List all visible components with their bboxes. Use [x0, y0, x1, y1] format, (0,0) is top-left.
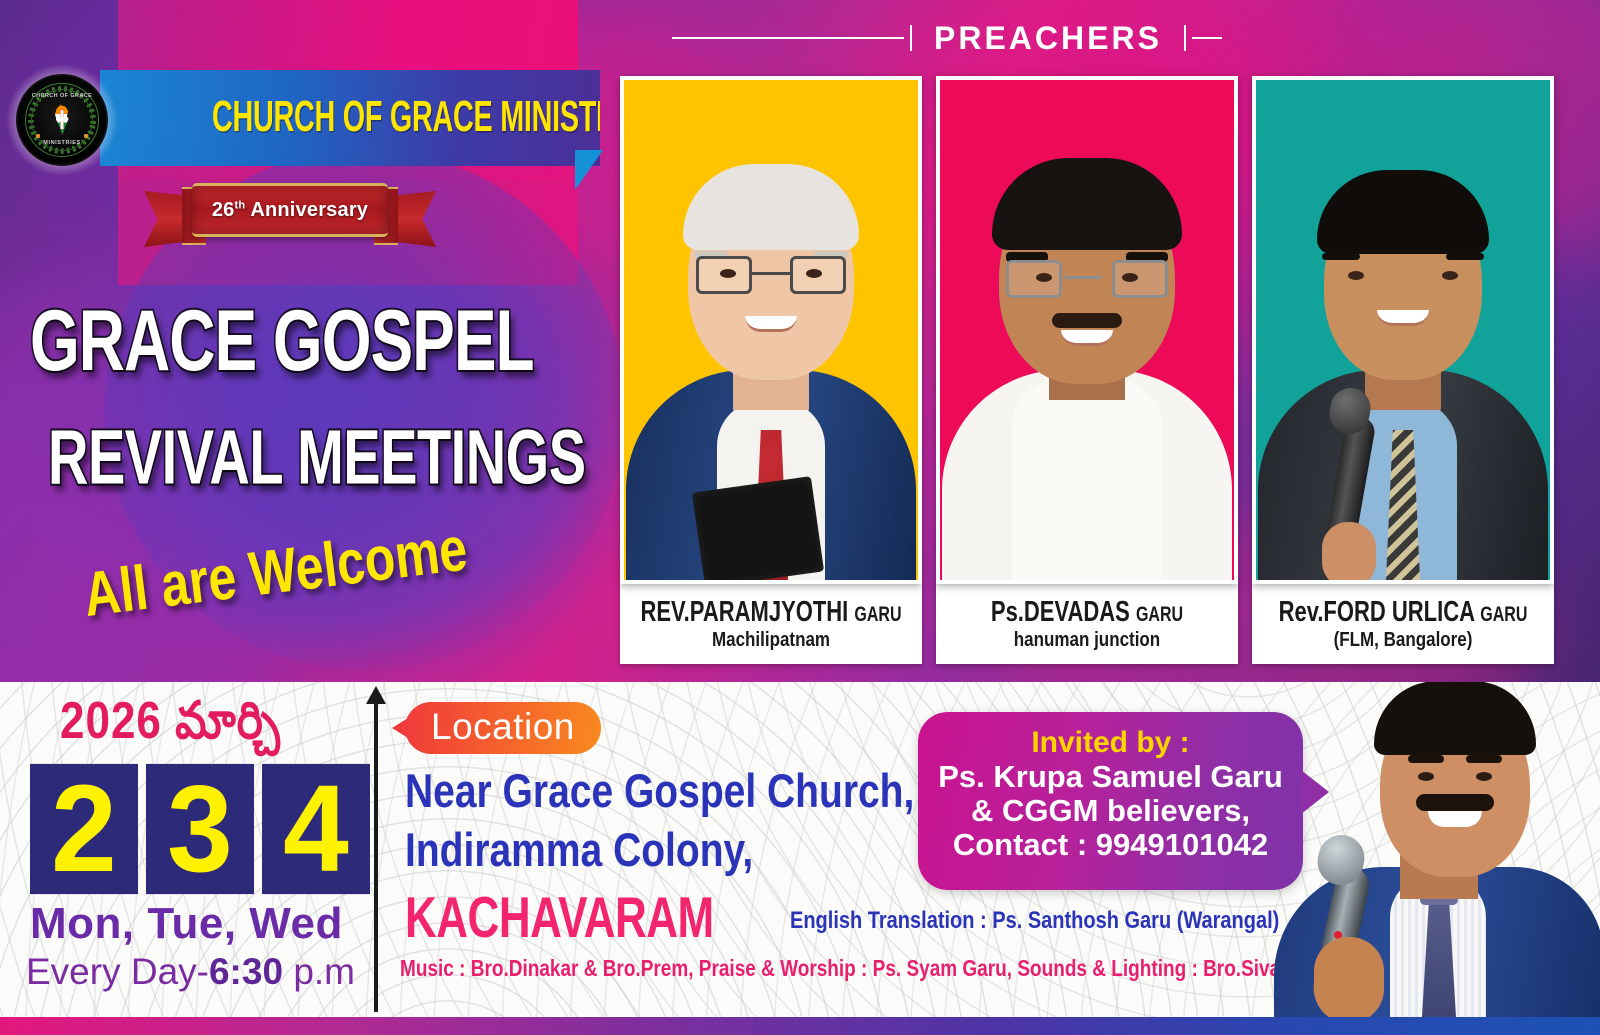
preacher-portrait	[940, 80, 1234, 580]
top-hero-section: PREACHERS CHURCH OF GRACE MINISTRIES PRE…	[0, 0, 1600, 682]
preacher-card: REV.PARAMJYOTHI GARU Machilipatnam	[620, 76, 922, 664]
mouth	[1377, 310, 1429, 326]
preacher-place: Machilipatnam	[712, 628, 830, 652]
preacher-name: REV.PARAMJYOTHI GARU	[640, 595, 901, 629]
day-number: 3	[146, 764, 254, 894]
preacher-card: Ps.DEVADAS GARU hanuman junction	[936, 76, 1238, 664]
preachers-heading-label: PREACHERS	[934, 20, 1162, 57]
preacher-portrait	[624, 80, 918, 580]
preacher-caption: Rev.FORD URLICA GARU (FLM, Bangalore)	[1252, 584, 1554, 664]
moustache	[1052, 313, 1122, 328]
bible-shape	[692, 476, 824, 584]
cross-icon	[56, 117, 68, 120]
preacher-card: Rev.FORD URLICA GARU (FLM, Bangalore)	[1252, 76, 1554, 664]
invited-by-line-2: & CGGM believers,	[928, 794, 1293, 828]
hand-shape	[1314, 937, 1384, 1017]
invited-by-contact: Contact : 9949101042	[928, 828, 1293, 862]
location-line-1: Near Grace Gospel Church,	[405, 768, 925, 818]
eye	[1122, 273, 1138, 282]
main-title-line1: GRACE GOSPEL	[30, 300, 610, 383]
hand-shape	[1322, 522, 1376, 584]
mouth	[1061, 330, 1113, 346]
hair-shape	[1317, 170, 1489, 254]
moustache	[1416, 794, 1494, 811]
heading-tick-right	[1184, 25, 1186, 51]
badge-tail	[392, 718, 408, 738]
invited-by-heading: Invited by :	[928, 726, 1293, 760]
preacher-place: hanuman junction	[1014, 628, 1160, 652]
preacher-caption: REV.PARAMJYOTHI GARU Machilipatnam	[620, 584, 922, 664]
ministry-logo: CHURCH OF GRACE MINISTRIES	[16, 74, 108, 166]
logo-dot	[36, 134, 40, 138]
event-date-block: 2026 మార్చి 2 3 4 Mon, Tue, Wed Every Da…	[18, 692, 378, 993]
preacher-caption: Ps.DEVADAS GARU hanuman junction	[936, 584, 1238, 664]
bottom-color-strip	[0, 1017, 1600, 1035]
logo-top-text: CHURCH OF GRACE	[32, 93, 92, 99]
day-number: 4	[262, 764, 370, 894]
hair-shape	[683, 164, 859, 250]
eyebrow	[1446, 253, 1484, 260]
logo-dot	[84, 134, 88, 138]
preacher-portrait	[1256, 80, 1550, 580]
eye	[1442, 271, 1458, 280]
mouth	[1428, 811, 1482, 827]
eye	[720, 269, 736, 278]
preacher-name: Rev.FORD URLICA GARU	[1279, 595, 1528, 629]
english-translation-label: English Translation : Ps. Santhosh Garu …	[790, 908, 1279, 935]
presents-ribbon: CHURCH OF GRACE MINISTRIES PRESENTS	[100, 70, 600, 166]
glasses-icon	[1006, 260, 1168, 298]
eye	[1418, 772, 1434, 781]
eyebrow	[1466, 755, 1502, 763]
heading-rule-left	[672, 37, 904, 39]
eye	[806, 269, 822, 278]
glasses-icon	[696, 256, 846, 294]
preachers-heading: PREACHERS	[672, 18, 1272, 58]
hair-shape	[992, 158, 1182, 250]
day-number-group: 2 3 4	[30, 767, 378, 891]
anniversary-label: 26th Anniversary	[212, 199, 368, 222]
invited-by-bubble: Invited by : Ps. Krupa Samuel Garu & CGG…	[918, 712, 1303, 890]
bridge	[1064, 276, 1102, 279]
preacher-place: (FLM, Bangalore)	[1334, 628, 1473, 652]
vertical-arrow-divider	[374, 700, 378, 1012]
preacher-photo-frame	[1252, 76, 1554, 584]
preacher-photo-frame	[936, 76, 1238, 584]
lens	[1006, 260, 1062, 298]
preacher-photo-frame	[620, 76, 922, 584]
location-line-2: Indiramma Colony,	[405, 827, 925, 877]
logo-disc: CHURCH OF GRACE MINISTRIES	[16, 74, 108, 166]
time-label: Every Day-6:30 p.m	[26, 951, 378, 993]
heading-rule-right	[1192, 37, 1222, 39]
eye	[1348, 271, 1364, 280]
preacher-name: Ps.DEVADAS GARU	[991, 595, 1183, 629]
heading-tick-left	[910, 25, 912, 51]
weekdays-label: Mon, Tue, Wed	[30, 899, 378, 949]
eyebrow	[1408, 755, 1444, 763]
logo-bottom-text: MINISTRIES	[43, 140, 80, 146]
eye	[1036, 273, 1052, 282]
location-badge-label: Location	[405, 702, 601, 754]
location-block: Location Near Grace Gospel Church, Indir…	[405, 702, 925, 934]
preacher-cards: REV.PARAMJYOTHI GARU Machilipatnam	[620, 76, 1554, 664]
month-year-label: 2026 మార్చి	[60, 692, 378, 764]
hair-shape	[1374, 682, 1536, 755]
main-title-line2: REVIVAL MEETINGS	[48, 420, 628, 494]
anniversary-ribbon: 26th Anniversary	[140, 175, 440, 253]
eyebrow	[1322, 253, 1360, 260]
lens	[1112, 260, 1168, 298]
shirt-shape	[1012, 380, 1162, 580]
poster-root: PREACHERS CHURCH OF GRACE MINISTRIES PRE…	[0, 0, 1600, 1035]
day-number: 2	[30, 764, 138, 894]
invited-by-line-1: Ps. Krupa Samuel Garu	[928, 760, 1293, 794]
bridge	[752, 272, 790, 275]
location-badge-wrap: Location	[405, 702, 601, 754]
eye	[1476, 772, 1492, 781]
anniversary-banner: 26th Anniversary	[192, 183, 388, 237]
mouth	[745, 316, 797, 332]
